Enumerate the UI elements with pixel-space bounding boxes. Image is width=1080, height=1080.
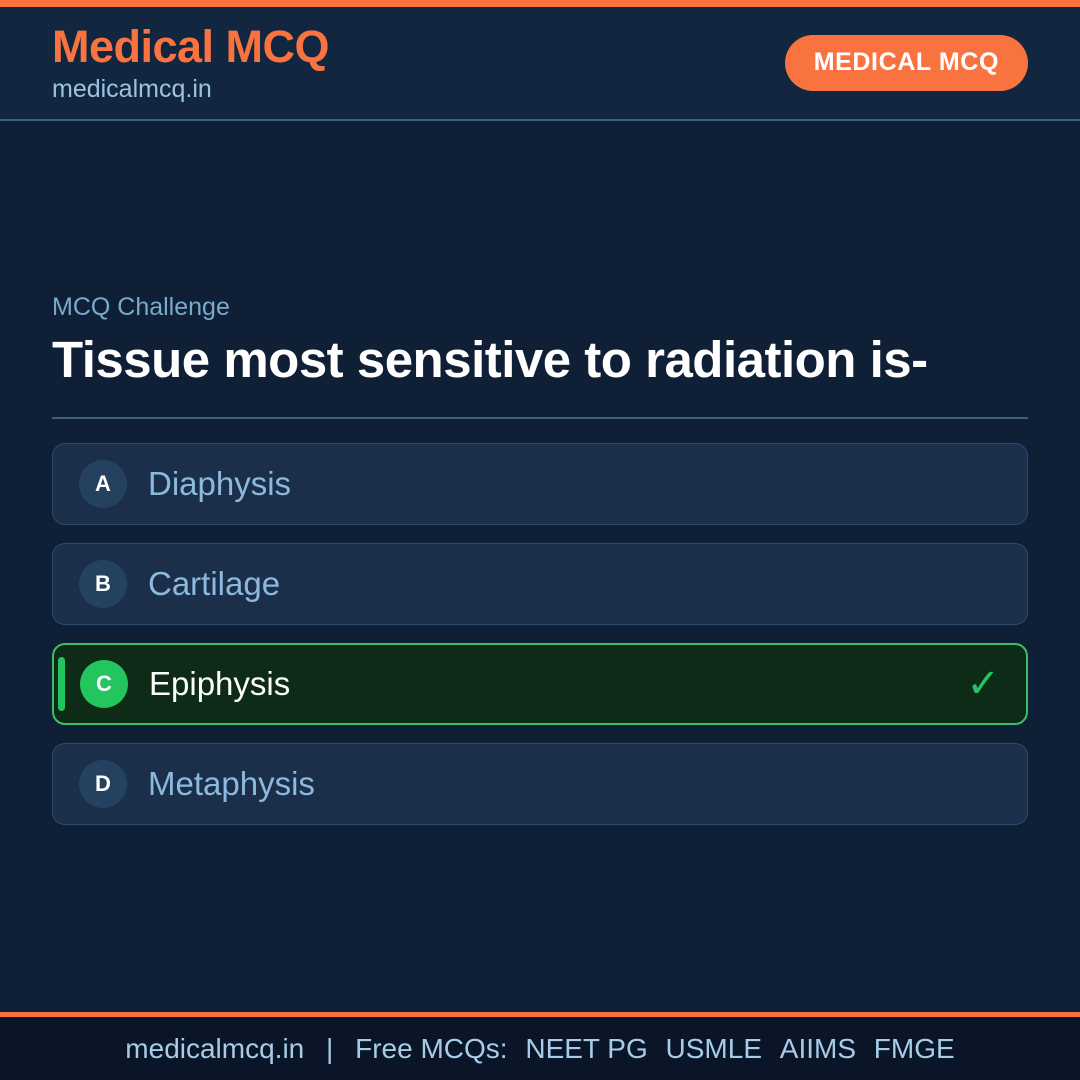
option-row-d[interactable]: D Metaphysis [52, 743, 1028, 825]
question-block: MCQ Challenge Tissue most sensitive to r… [52, 294, 1028, 443]
option-key-badge: D [79, 760, 127, 808]
option-label: Epiphysis [149, 667, 290, 700]
footer-site[interactable]: medicalmcq.in [125, 1033, 304, 1064]
options-list: A Diaphysis B Cartilage C Epiphysis ✓ D … [52, 443, 1028, 825]
page-header: Medical MCQ medicalmcq.in MEDICAL MCQ [0, 7, 1080, 121]
footer-exam-usmle: USMLE [666, 1033, 762, 1064]
option-row-b[interactable]: B Cartilage [52, 543, 1028, 625]
option-key-badge: B [79, 560, 127, 608]
question-divider [52, 417, 1028, 419]
page-footer: medicalmcq.in | Free MCQs: NEET PG USMLE… [0, 1012, 1080, 1080]
option-key-badge: C [80, 660, 128, 708]
top-accent-bar [0, 0, 1080, 7]
footer-exam-neet-pg: NEET PG [525, 1033, 647, 1064]
check-icon: ✓ [966, 664, 1000, 704]
option-label: Diaphysis [148, 467, 291, 500]
question-title: Tissue most sensitive to radiation is- [52, 332, 1028, 387]
footer-text: medicalmcq.in | Free MCQs: NEET PG USMLE… [125, 1033, 954, 1065]
correct-accent-bar [58, 657, 65, 711]
footer-exam-aiims: AIIMS [780, 1033, 856, 1064]
option-row-c[interactable]: C Epiphysis ✓ [52, 643, 1028, 725]
footer-exam-fmge: FMGE [874, 1033, 955, 1064]
eyebrow-label: MCQ Challenge [52, 294, 1028, 322]
option-label: Metaphysis [148, 767, 315, 800]
footer-free-label: Free MCQs: [355, 1033, 507, 1064]
mcq-card-page: Medical MCQ medicalmcq.in MEDICAL MCQ MC… [0, 0, 1080, 1080]
main-content: MCQ Challenge Tissue most sensitive to r… [0, 121, 1080, 1012]
option-row-a[interactable]: A Diaphysis [52, 443, 1028, 525]
brand-title: Medical MCQ [52, 24, 329, 71]
footer-separator: | [326, 1033, 333, 1064]
brand-subtitle: medicalmcq.in [52, 76, 329, 102]
brand-block: Medical MCQ medicalmcq.in [52, 24, 329, 103]
option-key-badge: A [79, 460, 127, 508]
brand-badge[interactable]: MEDICAL MCQ [785, 35, 1028, 91]
option-label: Cartilage [148, 567, 280, 600]
